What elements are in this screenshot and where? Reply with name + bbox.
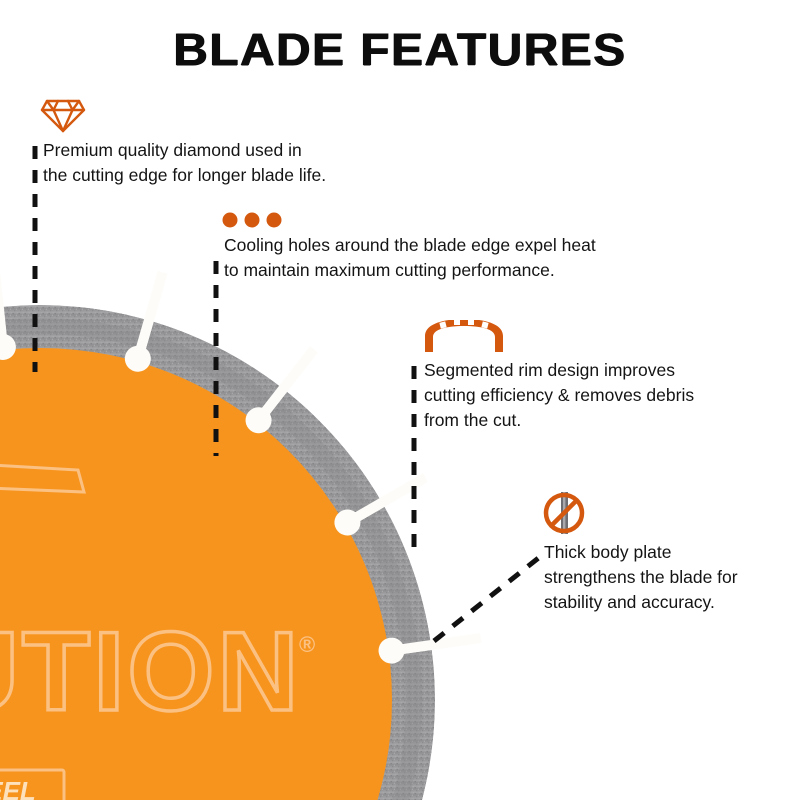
callout-thick-body-plate-text: Thick body plate strengthens the blade f… [541, 540, 791, 615]
blade-body-stripe [0, 462, 84, 492]
leader-line-thick-body-plate [434, 552, 546, 641]
blade-brand-mark: ® [299, 632, 315, 657]
rim-segment-gaps [0, 297, 442, 666]
callout-cooling-holes: Cooling holes around the blade edge expe… [221, 211, 691, 283]
callout-segmented-rim: Segmented rim design improves cutting ef… [421, 320, 751, 433]
svg-text:STEEL: STEEL [0, 776, 36, 800]
callout-cooling-holes-text: Cooling holes around the blade edge expe… [221, 233, 691, 283]
three-dots-icon [221, 211, 283, 229]
segmented-rim-icon [421, 320, 507, 354]
callout-premium-diamond-text: Premium quality diamond used in the cutt… [40, 138, 400, 188]
cooling-holes [0, 256, 482, 665]
blade-features-infographic: BLADE FEATURES [0, 0, 800, 800]
callout-premium-diamond: Premium quality diamond used in the cutt… [40, 96, 400, 188]
page-title: BLADE FEATURES [0, 24, 800, 76]
svg-text:UTION: UTION [0, 609, 301, 734]
blade-brand-text: UTION [0, 609, 301, 734]
blade-badge: STEEL [0, 770, 64, 800]
no-bend-plate-icon [541, 490, 587, 536]
blade-rim [0, 297, 442, 800]
callout-segmented-rim-text: Segmented rim design improves cutting ef… [421, 358, 751, 433]
svg-text:®: ® [299, 632, 315, 657]
blade-body [0, 344, 396, 800]
callout-thick-body-plate: Thick body plate strengthens the blade f… [541, 490, 791, 615]
diamond-gem-icon [40, 96, 86, 134]
